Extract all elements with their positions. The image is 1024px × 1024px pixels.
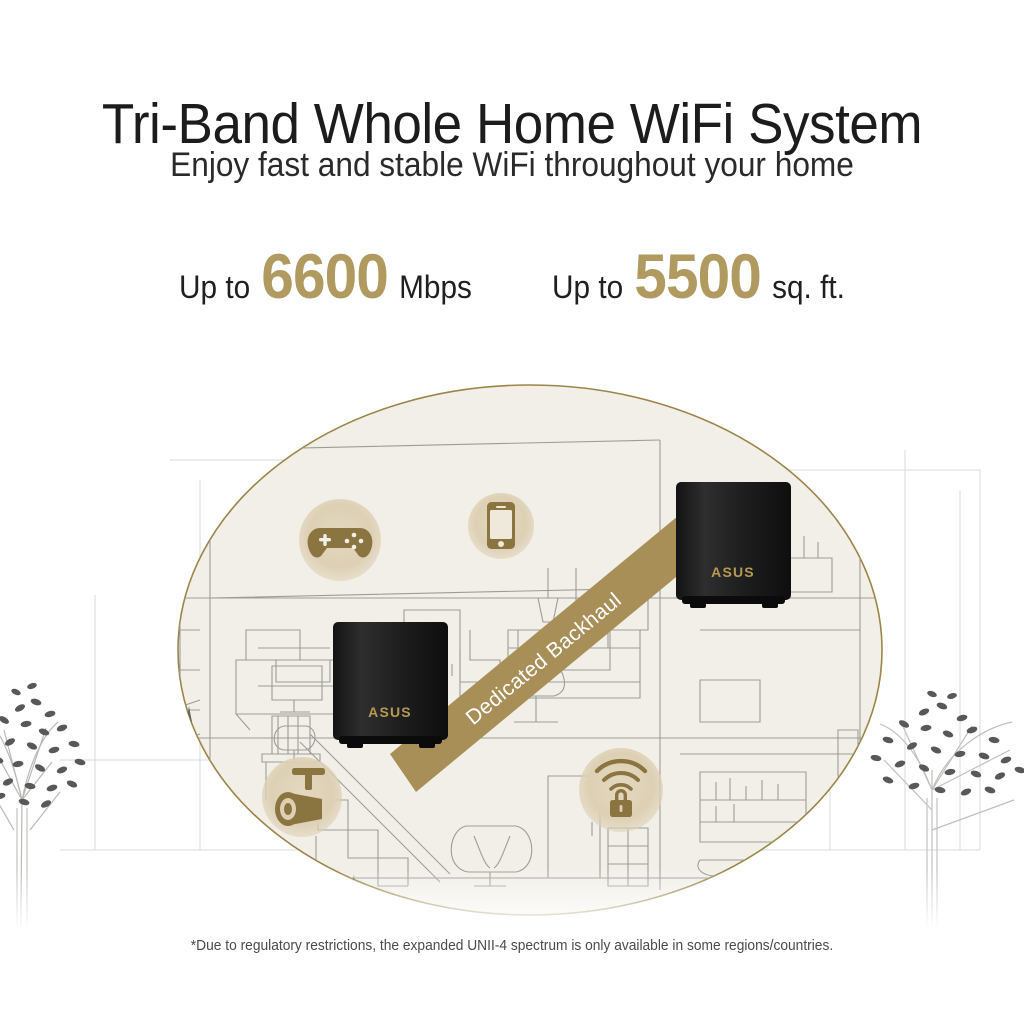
- promo-page: Tri-Band Whole Home WiFi System Enjoy fa…: [0, 0, 1024, 1024]
- house-illustration: Dedicated Backhaul ASUS ASUS: [0, 330, 1024, 930]
- footnote: *Due to regulatory restrictions, the exp…: [26, 938, 999, 954]
- spec-coverage-value: 5500: [634, 246, 761, 309]
- page-subtitle: Enjoy fast and stable WiFi throughout yo…: [36, 143, 988, 187]
- spec-coverage-unit: sq. ft.: [772, 271, 845, 303]
- gamepad-icon: [299, 499, 381, 581]
- spec-speed-unit: Mbps: [399, 271, 472, 303]
- spec-coverage-prefix: Up to: [552, 271, 623, 303]
- spec-row: Up to 6600 Mbps Up to 5500 sq. ft.: [0, 246, 1024, 309]
- smartphone-icon: [468, 493, 534, 559]
- bottom-fade: [0, 710, 1024, 930]
- spec-speed-prefix: Up to: [179, 271, 250, 303]
- spec-speed: Up to 6600 Mbps: [179, 246, 472, 309]
- spec-coverage: Up to 5500 sq. ft.: [552, 246, 845, 309]
- router-brand-upper: ASUS: [711, 564, 755, 580]
- router-upper-right: ASUS: [676, 482, 791, 608]
- spec-speed-value: 6600: [261, 246, 388, 309]
